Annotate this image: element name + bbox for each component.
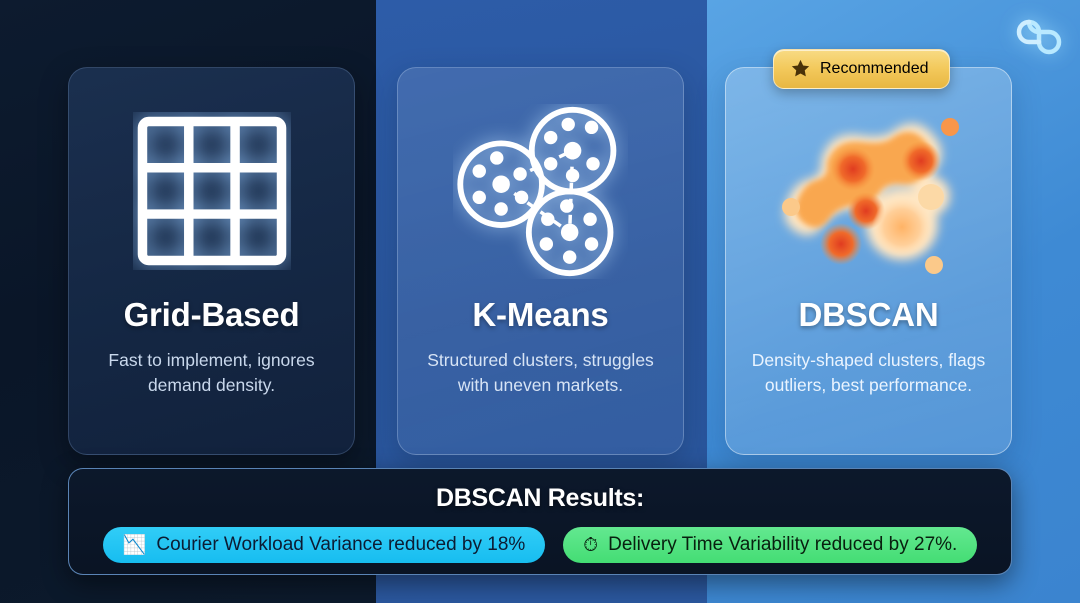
results-pill-row: 📉 Courier Workload Variance reduced by 1… — [103, 527, 978, 563]
chart-decreasing-icon: 📉 — [123, 536, 147, 555]
recommended-badge-label: Recommended — [820, 60, 929, 78]
result-pill-label: Delivery Time Variability reduced by 27%… — [608, 534, 957, 556]
card-description: Fast to implement, ignores demand densit… — [87, 348, 337, 398]
brand-loop-logo-icon — [1006, 10, 1064, 68]
star-icon — [790, 58, 811, 79]
cluster-centroids-icon — [453, 104, 628, 279]
dbscan-results-panel: DBSCAN Results: 📉 Courier Workload Varia… — [68, 468, 1012, 575]
stopwatch-icon: ⏱ — [583, 536, 598, 555]
result-pill-label: Courier Workload Variance reduced by 18% — [156, 534, 525, 556]
cluster-centroids-icon-wrap — [414, 86, 667, 296]
density-heatmap-icon-wrap — [742, 86, 995, 296]
outlier-point — [925, 256, 943, 274]
card-title: DBSCAN — [799, 296, 939, 334]
card-title: K-Means — [472, 296, 608, 334]
card-description: Density-shaped clusters, flags outliers,… — [744, 348, 994, 398]
infographic-stage: Grid-Based Fast to implement, ignores de… — [0, 0, 1080, 603]
card-k-means[interactable]: K-Means Structured clusters, struggles w… — [397, 67, 684, 455]
outlier-point — [918, 184, 944, 210]
card-dbscan[interactable]: DBSCAN Density-shaped clusters, flags ou… — [725, 67, 1012, 455]
card-title: Grid-Based — [124, 296, 300, 334]
density-heatmap-icon — [769, 99, 969, 284]
result-pill-courier-workload[interactable]: 📉 Courier Workload Variance reduced by 1… — [103, 527, 546, 563]
grid-3x3-icon — [133, 112, 291, 270]
card-description: Structured clusters, struggles with unev… — [416, 348, 666, 398]
outlier-point — [782, 198, 800, 216]
results-title: DBSCAN Results: — [436, 484, 644, 513]
recommended-badge[interactable]: Recommended — [773, 49, 950, 89]
grid-3x3-icon-wrap — [85, 86, 338, 296]
outlier-point — [941, 118, 959, 136]
result-pill-delivery-time[interactable]: ⏱ Delivery Time Variability reduced by 2… — [563, 527, 977, 563]
card-grid-based[interactable]: Grid-Based Fast to implement, ignores de… — [68, 67, 355, 455]
